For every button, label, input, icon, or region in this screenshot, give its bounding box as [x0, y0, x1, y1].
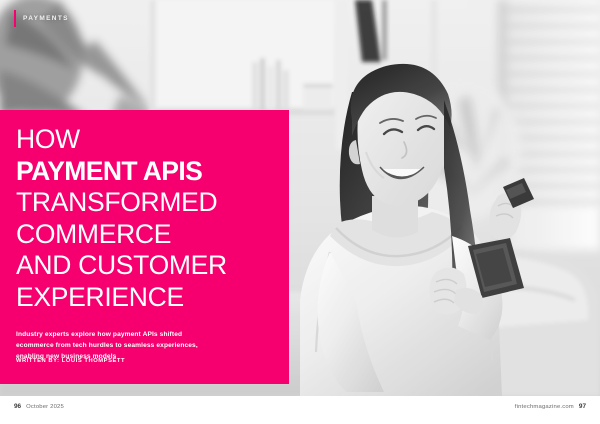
headline-line-2: PAYMENT APIs — [16, 156, 273, 188]
headline-line-6: EXPERIENCE — [16, 282, 273, 314]
kicker-accent-bar — [14, 10, 16, 27]
headline-panel: HOW PAYMENT APIs TRANSFORMED COMMERCE AN… — [0, 110, 289, 384]
footer-right: fintechmagazine.com 97 — [515, 403, 586, 410]
footer-left: 96 October 2025 — [14, 403, 64, 410]
page-footer: 96 October 2025 fintechmagazine.com 97 — [0, 396, 600, 424]
kicker-label: PAYMENTS — [23, 15, 69, 22]
left-folio: October 2025 — [26, 404, 64, 410]
standfirst-line-2: ecommerce from tech hurdles to seamless … — [16, 340, 268, 351]
standfirst: Industry experts explore how payment API… — [16, 313, 268, 362]
left-page-number: 96 — [14, 403, 21, 410]
headline-line-3: TRANSFORMED — [16, 187, 273, 219]
page-title: HOW PAYMENT APIs TRANSFORMED COMMERCE AN… — [16, 124, 273, 313]
right-folio: fintechmagazine.com — [515, 404, 574, 410]
byline: WRITTEN BY: LOUIS THOMPSETT — [16, 358, 125, 364]
section-kicker: PAYMENTS — [14, 10, 69, 27]
right-page-number: 97 — [579, 403, 586, 410]
headline-line-4: COMMERCE — [16, 219, 273, 251]
headline-line-5: AND CUSTOMER — [16, 250, 273, 282]
standfirst-line-1: Industry experts explore how payment API… — [16, 329, 268, 340]
headline-line-1: HOW — [16, 124, 273, 156]
magazine-spread: PAYMENTS HOW PAYMENT APIs TRANSFORMED CO… — [0, 0, 600, 424]
